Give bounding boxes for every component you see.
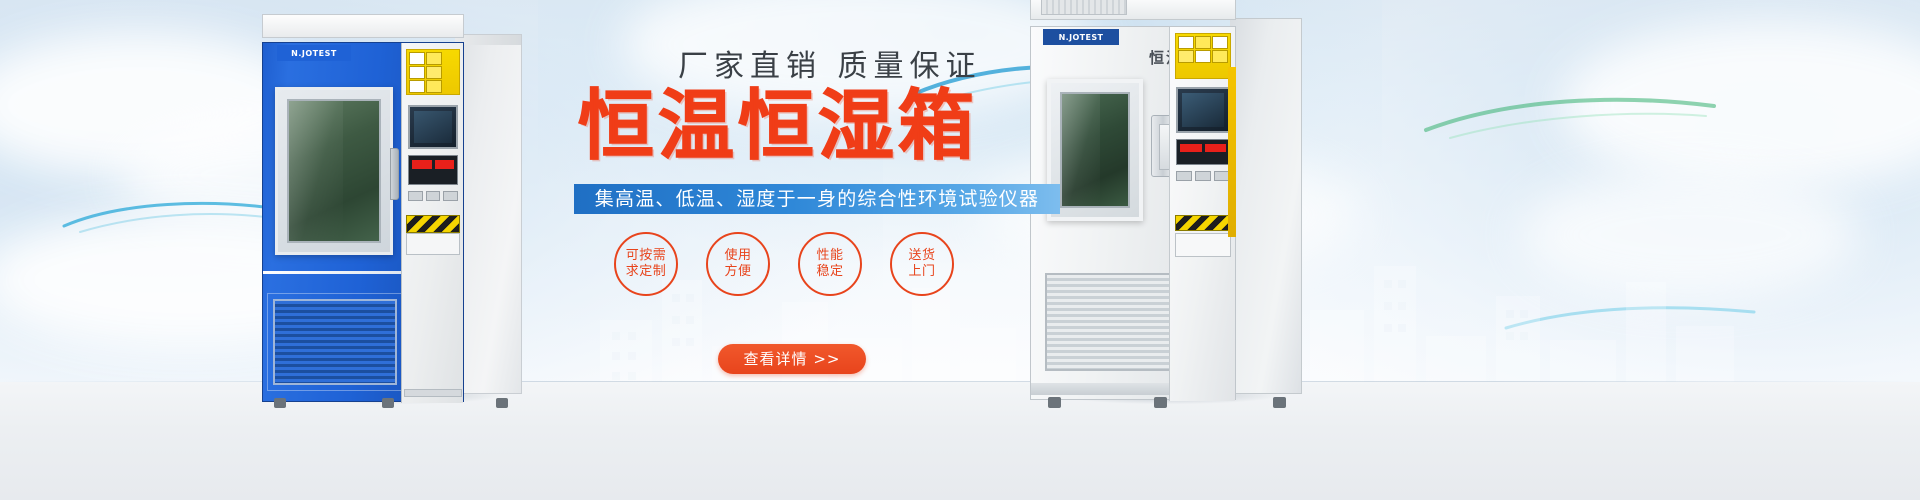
feature-badge-line2: 上门 — [908, 264, 935, 280]
feature-badge-line1: 使用 — [724, 248, 751, 264]
body-divider — [263, 271, 403, 274]
promo-banner: N.JOTEST — [0, 0, 1920, 500]
feature-badge-line2: 稳定 — [816, 264, 843, 280]
spec-plate — [406, 233, 460, 255]
feature-badge-line1: 性能 — [816, 248, 843, 264]
door-handle — [390, 148, 399, 200]
banner-eyebrow: 厂家直销 质量保证 — [678, 52, 982, 82]
chamber-top-cap — [262, 14, 464, 38]
hazard-stripe-icon — [1175, 215, 1231, 231]
control-button-row[interactable] — [1176, 171, 1230, 181]
view-details-button[interactable]: 查看详情 >> — [718, 344, 866, 374]
feature-badge-line2: 求定制 — [626, 264, 667, 280]
feature-badge: 使用 方便 — [706, 232, 770, 296]
hmi-touchscreen[interactable] — [408, 105, 458, 149]
banner-copy-block: 厂家直销 质量保证 恒温恒湿箱 集高温、低温、湿度于一身的综合性环境试验仪器 可… — [560, 0, 1080, 500]
chamber-side-panel — [456, 34, 522, 394]
feature-badge: 送货 上门 — [890, 232, 954, 296]
condenser-vent-grille — [273, 299, 397, 385]
panel-footplate — [404, 389, 462, 397]
feature-badge-line2: 方便 — [724, 264, 751, 280]
digital-readout-display — [408, 155, 458, 185]
banner-subtitle: 集高温、低温、湿度于一身的综合性环境试验仪器 — [574, 184, 1060, 214]
caster-wheel — [496, 398, 508, 408]
banner-headline: 恒温恒湿箱 — [578, 88, 978, 164]
hazard-stripe-icon — [406, 215, 460, 233]
control-panel — [1169, 27, 1235, 401]
product-image-left-chamber: N.JOTEST — [262, 28, 522, 400]
warning-labels-icon — [1175, 33, 1231, 79]
control-panel — [401, 43, 463, 403]
spec-plate — [1175, 233, 1231, 257]
feature-badge-line1: 可按需 — [626, 248, 667, 264]
chamber-body: N.JOTEST — [262, 42, 464, 402]
hmi-touchscreen[interactable] — [1176, 87, 1230, 133]
caster-wheel — [274, 398, 286, 408]
warning-labels-icon — [406, 49, 460, 95]
digital-readout-display — [1176, 139, 1230, 165]
feature-badge: 性能 稳定 — [798, 232, 862, 296]
caster-wheel — [1154, 397, 1167, 408]
feature-badge: 可按需 求定制 — [614, 232, 678, 296]
brand-mark: N.JOTEST — [277, 45, 351, 61]
chamber-viewing-window — [287, 99, 381, 243]
chamber-door — [275, 87, 393, 255]
chamber-side-top — [455, 35, 521, 45]
feature-badge-line1: 送货 — [908, 248, 935, 264]
yellow-edge-strip — [1228, 67, 1236, 237]
caster-wheel — [382, 398, 394, 408]
feature-badge-list: 可按需 求定制 使用 方便 性能 稳定 送货 上门 — [614, 232, 954, 296]
chamber-side-panel — [1230, 18, 1302, 394]
control-button-row[interactable] — [408, 191, 458, 201]
caster-wheel — [1273, 397, 1286, 408]
